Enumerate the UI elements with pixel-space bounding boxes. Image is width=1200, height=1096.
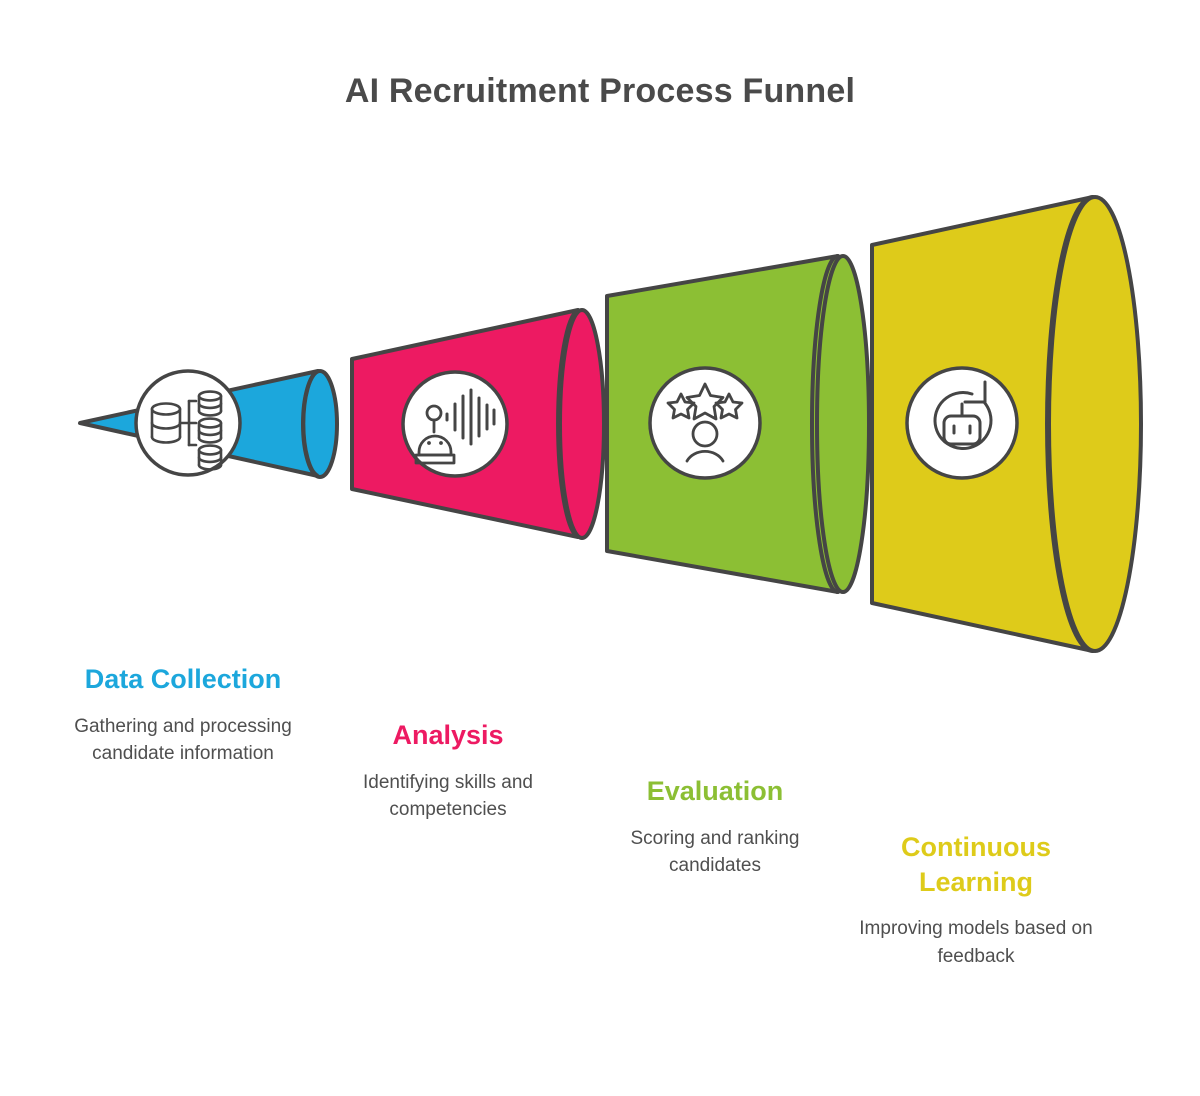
stage-caption-data-collection: Data Collection Gathering and processing… <box>58 662 308 768</box>
stage-description-continuous-learning: Improving models based on feedback <box>855 915 1097 970</box>
funnel-infographic-page: AI Recruitment Process Funnel <box>0 0 1200 1096</box>
stage-label-evaluation: Evaluation <box>594 774 836 809</box>
stage-2-icon-badge[interactable] <box>403 372 507 476</box>
stage-3-endcap <box>817 256 869 592</box>
stage-description-evaluation: Scoring and ranking candidates <box>594 825 836 880</box>
stage-label-continuous-learning: Continuous Learning <box>855 830 1097 899</box>
stage-caption-analysis: Analysis Identifying skills and competen… <box>327 718 569 824</box>
stage-description-data-collection: Gathering and processing candidate infor… <box>58 713 308 768</box>
stage-caption-evaluation: Evaluation Scoring and ranking candidate… <box>594 774 836 880</box>
stage-caption-continuous-learning: Continuous Learning Improving models bas… <box>855 830 1097 970</box>
stage-3-icon-badge[interactable] <box>650 368 760 478</box>
stage-description-analysis: Identifying skills and competencies <box>327 769 569 824</box>
stage-4-endcap <box>1049 197 1141 651</box>
stage-label-data-collection: Data Collection <box>58 662 308 697</box>
stage-4-icon-circle <box>907 368 1017 478</box>
stage-4-icon-badge[interactable] <box>907 368 1017 478</box>
stage-2-endcap <box>560 310 604 538</box>
stage-1-icon-badge[interactable] <box>136 371 240 475</box>
stage-label-analysis: Analysis <box>327 718 569 753</box>
